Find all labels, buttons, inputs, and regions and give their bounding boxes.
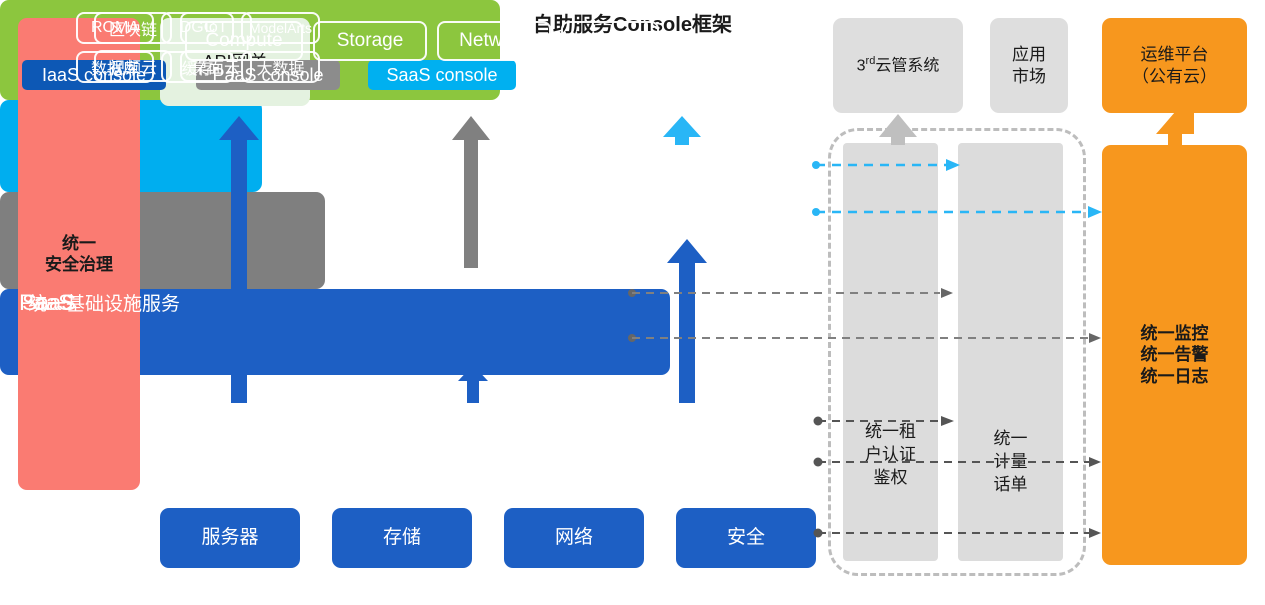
unified-monitoring-box[interactable]: 统一监控 统一告警 统一日志 <box>1102 145 1247 565</box>
monitoring-line2: 统一告警 <box>1141 344 1209 365</box>
third-cloud-prefix: 3 <box>857 57 866 74</box>
app-market-line1: 应用 <box>1012 44 1046 65</box>
arrow-infra-to-saas <box>667 239 707 403</box>
metering-line2: 计量 <box>958 451 1063 474</box>
infra-item-cce[interactable]: CCE <box>561 21 659 61</box>
unified-infrastructure-service-bar[interactable]: 统一基础设施服务 Compute Storage Network CCE <box>0 289 670 375</box>
foundation-item-storage[interactable]: 存储 <box>332 508 472 568</box>
architecture-diagram: 统一 安全治理 API网关 自助服务Console框架 IaaS console… <box>0 0 1265 605</box>
infra-item-network[interactable]: Network <box>437 21 551 61</box>
ops-platform-box[interactable]: 运维平台 （公有云） <box>1102 18 1247 113</box>
metering-line3: 话单 <box>958 474 1063 497</box>
infra-item-storage[interactable]: Storage <box>313 21 427 61</box>
metering-line1: 统一 <box>958 428 1063 451</box>
arrow-monitoring-to-ops-platform <box>1156 112 1194 145</box>
auth-line3: 鉴权 <box>843 467 938 490</box>
unified-tenant-auth-column[interactable]: 统一租 户认证 鉴权 <box>843 143 938 561</box>
third-cloud-sup: rd <box>866 55 876 67</box>
arrow-saas-to-saas-console <box>663 116 701 145</box>
foundation-item-server[interactable]: 服务器 <box>160 508 300 568</box>
auth-column-text: 统一租 户认证 鉴权 <box>843 421 938 490</box>
foundation-item-security[interactable]: 安全 <box>676 508 816 568</box>
app-market-line2: 市场 <box>1012 66 1046 87</box>
third-cloud-label: 3rd云管系统 <box>857 55 940 76</box>
app-market-box[interactable]: 应用 市场 <box>990 18 1068 113</box>
arrow-paas-to-console <box>452 116 490 268</box>
saas-console-button[interactable]: SaaS console <box>368 60 516 90</box>
ops-platform-line2: （公有云） <box>1132 66 1217 87</box>
ops-platform-line1: 运维平台 <box>1132 44 1217 65</box>
third-cloud-text: 云管系统 <box>875 57 939 74</box>
infra-item-compute[interactable]: Compute <box>185 21 303 61</box>
metering-column-text: 统一 计量 话单 <box>958 428 1063 497</box>
monitoring-line1: 统一监控 <box>1141 323 1209 344</box>
unified-metering-column[interactable]: 统一 计量 话单 <box>958 143 1063 561</box>
third-party-cloud-management-box[interactable]: 3rd云管系统 <box>833 18 963 113</box>
foundation-item-network[interactable]: 网络 <box>504 508 644 568</box>
monitoring-line3: 统一日志 <box>1141 366 1209 387</box>
auth-line2: 户认证 <box>843 444 938 467</box>
auth-line1: 统一租 <box>843 421 938 444</box>
